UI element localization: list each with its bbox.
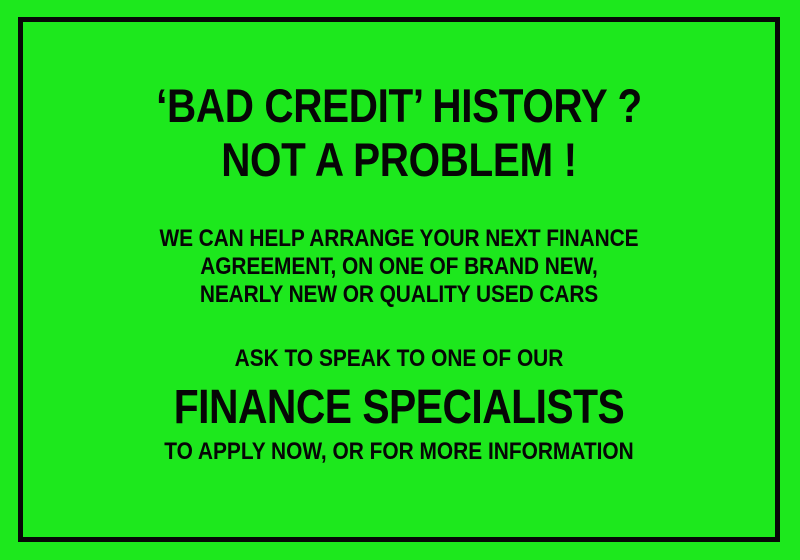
poster-content: ‘BAD CREDIT’ HISTORY ? NOT A PROBLEM ! W… (18, 17, 780, 542)
advert-poster: ‘BAD CREDIT’ HISTORY ? NOT A PROBLEM ! W… (0, 0, 800, 560)
headline-line-1: ‘BAD CREDIT’ HISTORY ? (71, 79, 726, 133)
body-line-1: WE CAN HELP ARRANGE YOUR NEXT FINANCE (68, 225, 731, 253)
specialists-block: FINANCE SPECIALISTS (18, 382, 780, 434)
body-line-3: NEARLY NEW OR QUALITY USED CARS (68, 281, 731, 309)
finance-specialists-heading: FINANCE SPECIALISTS (75, 382, 723, 434)
body-paragraph: WE CAN HELP ARRANGE YOUR NEXT FINANCE AG… (18, 225, 780, 309)
body-line-2: AGREEMENT, ON ONE OF BRAND NEW, (68, 253, 731, 281)
apply-now-line: TO APPLY NOW, OR FOR MORE INFORMATION (68, 438, 731, 466)
apply-block: TO APPLY NOW, OR FOR MORE INFORMATION (18, 438, 780, 466)
headline-line-2: NOT A PROBLEM ! (71, 133, 726, 187)
headline-block: ‘BAD CREDIT’ HISTORY ? NOT A PROBLEM ! (18, 79, 780, 187)
ask-block: ASK TO SPEAK TO ONE OF OUR (18, 345, 780, 373)
ask-to-speak-line: ASK TO SPEAK TO ONE OF OUR (68, 345, 731, 373)
